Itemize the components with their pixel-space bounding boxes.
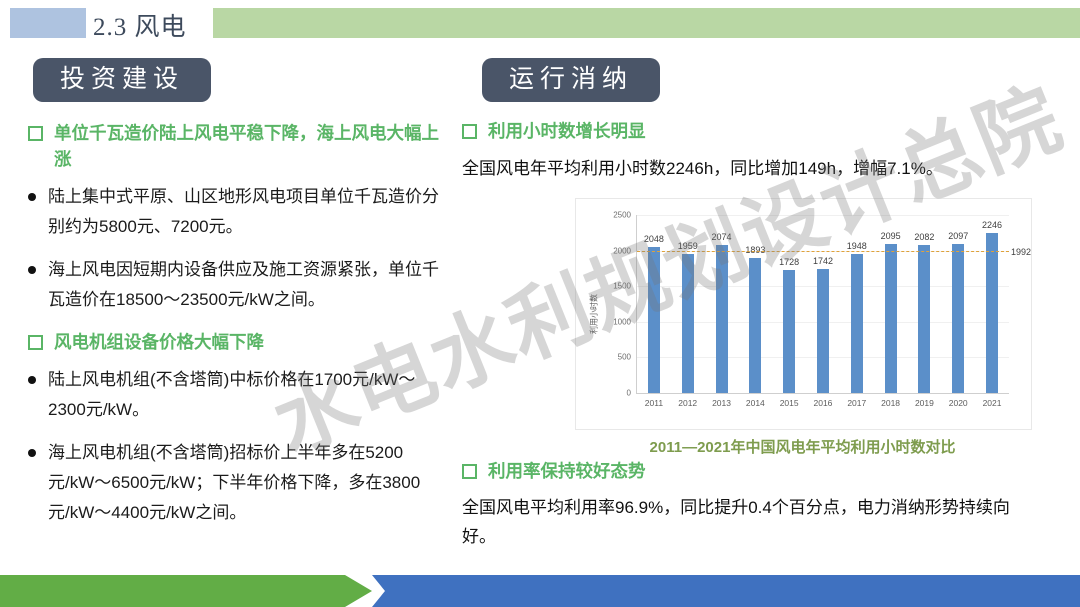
chart-bar-value-label: 1728	[779, 257, 799, 267]
chart-x-tick: 2016	[814, 398, 833, 408]
chart-y-tick: 2500	[613, 211, 631, 220]
chart-x-tick: 2018	[881, 398, 900, 408]
chart-bar[interactable]	[648, 247, 660, 393]
chart-bar-slot[interactable]: 18932014	[738, 215, 772, 393]
chart-bar[interactable]	[716, 245, 728, 393]
chart-x-tick: 2017	[847, 398, 866, 408]
chart-y-tick: 0	[627, 389, 631, 398]
dot-bullet-icon	[28, 193, 36, 201]
chart-average-line: 1992	[637, 251, 1009, 252]
left-heading-2: 风电机组设备价格大幅下降	[28, 329, 448, 355]
chart-bar-slot[interactable]: 19482017	[840, 215, 874, 393]
footer-green-arrow	[0, 575, 372, 607]
chart-average-line-label: 1992	[1011, 247, 1031, 257]
right-paragraph-2: 全国风电平均利用率96.9%，同比提升0.4个百分点，电力消纳形势持续向好。	[462, 493, 1022, 551]
square-bullet-icon	[28, 335, 43, 350]
dot-bullet-icon	[28, 376, 36, 384]
chart-x-tick: 2015	[780, 398, 799, 408]
chart-y-tick: 1500	[613, 282, 631, 291]
chart-bar-value-label: 1948	[847, 241, 867, 251]
right-paragraph-1: 全国风电年平均利用小时数2246h，同比增加149h，增幅7.1%。	[462, 154, 1022, 183]
left-bullet-2: 海上风电因短期内设备供应及施工资源紧张，单位千瓦造价在18500～23500元/…	[28, 255, 448, 315]
chart-bar-value-label: 1742	[813, 256, 833, 266]
chart-y-axis-title: 利用小时数	[589, 294, 600, 334]
chart-bar[interactable]	[817, 269, 829, 393]
chart-bar-value-label: 2074	[712, 232, 732, 242]
chart-bar-slot[interactable]: 20742013	[705, 215, 739, 393]
chart-bar[interactable]	[986, 233, 998, 393]
chart-x-tick: 2012	[678, 398, 697, 408]
right-heading-2: 利用率保持较好态势	[462, 458, 1022, 484]
chart-x-tick: 2019	[915, 398, 934, 408]
left-content-column: 单位千瓦造价陆上风电平稳下降，海上风电大幅上涨 陆上集中式平原、山区地形风电项目…	[28, 120, 448, 541]
chart-bar-value-label: 2246	[982, 220, 1002, 230]
chart-bar-slot[interactable]: 19592012	[671, 215, 705, 393]
chart-x-tick: 2021	[983, 398, 1002, 408]
chart-bar[interactable]	[682, 254, 694, 393]
left-bullet-1: 陆上集中式平原、山区地形风电项目单位千瓦造价分别约为5800元、7200元。	[28, 182, 448, 242]
chart-caption: 2011—2021年中国风电年平均利用小时数对比	[575, 436, 1030, 457]
header-blue-block	[10, 8, 86, 38]
chart-bar[interactable]	[885, 244, 897, 393]
right-content-column: 利用小时数增长明显 全国风电年平均利用小时数2246h，同比增加149h，增幅7…	[462, 118, 1022, 189]
square-bullet-icon	[462, 124, 477, 139]
chart-bar[interactable]	[783, 270, 795, 393]
footer-blue-bar	[358, 575, 1080, 607]
left-bullet-4: 海上风电机组(不含塔筒)招标价上半年多在5200元/kW～6500元/kW；下半…	[28, 438, 448, 528]
page-title: 2.3 风电	[93, 7, 187, 43]
section-pill-investment[interactable]: 投资建设	[33, 58, 211, 102]
chart-bar-value-label: 2095	[881, 231, 901, 241]
chart-y-tick: 1000	[613, 317, 631, 326]
header-green-band	[213, 8, 1080, 38]
chart-bar[interactable]	[851, 254, 863, 393]
chart-x-tick: 2011	[645, 398, 663, 408]
dot-bullet-icon	[28, 449, 36, 457]
right-heading-1: 利用小时数增长明显	[462, 118, 1022, 144]
chart-bar[interactable]	[952, 244, 964, 393]
chart-bar[interactable]	[918, 245, 930, 393]
chart-x-tick: 2020	[949, 398, 968, 408]
chart-bar-slot[interactable]: 17282015	[772, 215, 806, 393]
square-bullet-icon	[28, 126, 43, 141]
utilization-hours-bar-chart: 利用小时数 0500100015002000250020482011195920…	[575, 198, 1032, 430]
chart-bar-slot[interactable]: 20952018	[874, 215, 908, 393]
chart-bar-value-label: 2048	[644, 234, 664, 244]
chart-bar[interactable]	[749, 258, 761, 393]
chart-bar-value-label: 1959	[678, 241, 698, 251]
chart-bar-slot[interactable]: 20822019	[908, 215, 942, 393]
dot-bullet-icon	[28, 266, 36, 274]
chart-plot-area: 0500100015002000250020482011195920122074…	[636, 215, 1009, 394]
chart-x-tick: 2013	[712, 398, 731, 408]
chart-y-tick: 2000	[613, 246, 631, 255]
chart-bar-slot[interactable]: 20972020	[941, 215, 975, 393]
chart-bar-value-label: 2082	[914, 232, 934, 242]
chart-bar-value-label: 2097	[948, 231, 968, 241]
square-bullet-icon	[462, 464, 477, 479]
chart-bar-group: 2048201119592012207420131893201417282015…	[637, 215, 1009, 393]
chart-bar-slot[interactable]: 20482011	[637, 215, 671, 393]
slide-footer	[0, 575, 1080, 607]
chart-y-tick: 500	[618, 353, 631, 362]
slide-header: 2.3 风电	[0, 0, 1080, 42]
chart-bar-slot[interactable]: 17422016	[806, 215, 840, 393]
section-pill-operation[interactable]: 运行消纳	[482, 58, 660, 102]
left-bullet-3: 陆上风电机组(不含塔筒)中标价格在1700元/kW～2300元/kW。	[28, 365, 448, 425]
left-heading-1: 单位千瓦造价陆上风电平稳下降，海上风电大幅上涨	[28, 120, 448, 172]
chart-bar-slot[interactable]: 22462021	[975, 215, 1009, 393]
chart-x-tick: 2014	[746, 398, 765, 408]
